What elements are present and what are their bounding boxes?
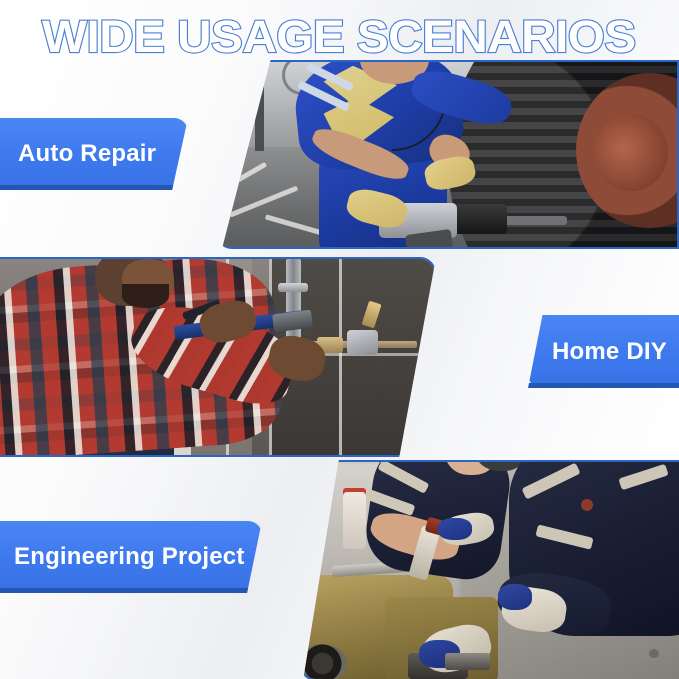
scenario-photo-home-diy (0, 257, 436, 457)
wheel-rim (594, 114, 667, 192)
scenario-badge-engineering-project[interactable]: Engineering Project (0, 521, 262, 593)
work-glove-cuff (498, 584, 532, 610)
background-post (255, 69, 264, 150)
tile-grout-line (339, 259, 342, 455)
marketing-banner: WIDE USAGE SCENARIOS (0, 0, 679, 679)
work-glove-cuff (438, 518, 472, 540)
workpiece (445, 653, 490, 670)
workshop-bottle (343, 492, 366, 548)
pipe-flange (278, 283, 308, 293)
coverall-button (649, 649, 659, 659)
scenario-badge-auto-repair[interactable]: Auto Repair (0, 118, 188, 190)
badge-bottom-edge (0, 588, 262, 593)
photo-engineering-scene (302, 462, 679, 679)
impact-wrench-anvil (503, 216, 567, 225)
page-title: WIDE USAGE SCENARIOS (42, 12, 678, 62)
coverall-button (581, 499, 593, 511)
scenario-photo-engineering-project (300, 460, 679, 679)
diy-worker-beard (122, 284, 170, 308)
scenario-badge-label: Engineering Project (14, 543, 245, 571)
scenario-photo-auto-repair (216, 60, 679, 249)
badge-bottom-edge (528, 383, 679, 388)
machine-chuck (300, 644, 347, 679)
photo-home-diy-scene (0, 259, 434, 455)
scenario-badge-home-diy[interactable]: Home DIY (528, 315, 679, 388)
photo-auto-repair-scene (218, 62, 677, 247)
scenario-badge-label: Auto Repair (18, 140, 156, 168)
badge-bottom-edge (0, 185, 188, 190)
scenario-badge-label: Home DIY (552, 338, 667, 366)
pipe-valve (347, 330, 377, 355)
